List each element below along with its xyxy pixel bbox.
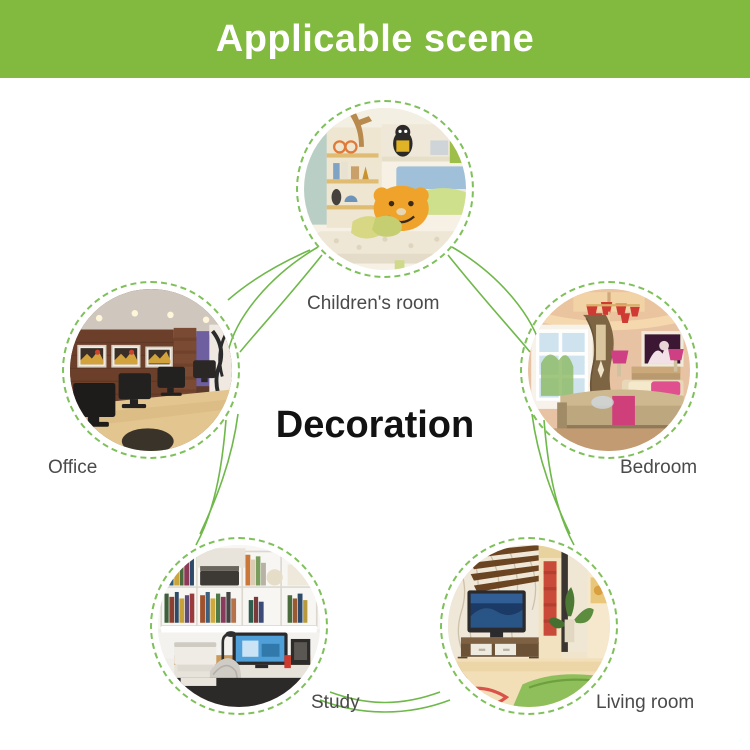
page-title: Applicable scene bbox=[216, 18, 534, 61]
arc-children-office bbox=[228, 247, 318, 352]
scene-label-study: Study bbox=[311, 692, 360, 714]
scene-label-bedroom: Bedroom bbox=[620, 457, 697, 479]
living-room-photo bbox=[448, 545, 610, 707]
scene-node-study[interactable] bbox=[150, 537, 328, 715]
scene-node-children-room[interactable] bbox=[296, 100, 474, 278]
header-banner: Applicable scene bbox=[0, 0, 750, 78]
scene-label-children-room: Children's room bbox=[307, 293, 439, 315]
center-title: Decoration bbox=[0, 404, 750, 447]
study-photo bbox=[158, 545, 320, 707]
arc-inner-children-bedroom bbox=[448, 255, 530, 352]
scene-node-living-room[interactable] bbox=[440, 537, 618, 715]
children-room-photo bbox=[304, 108, 466, 270]
scene-label-living-room: Living room bbox=[596, 692, 694, 714]
applicable-scene-infographic: Applicable scene bbox=[0, 0, 750, 750]
connector-children-office bbox=[228, 250, 310, 300]
scene-label-office: Office bbox=[48, 457, 97, 479]
